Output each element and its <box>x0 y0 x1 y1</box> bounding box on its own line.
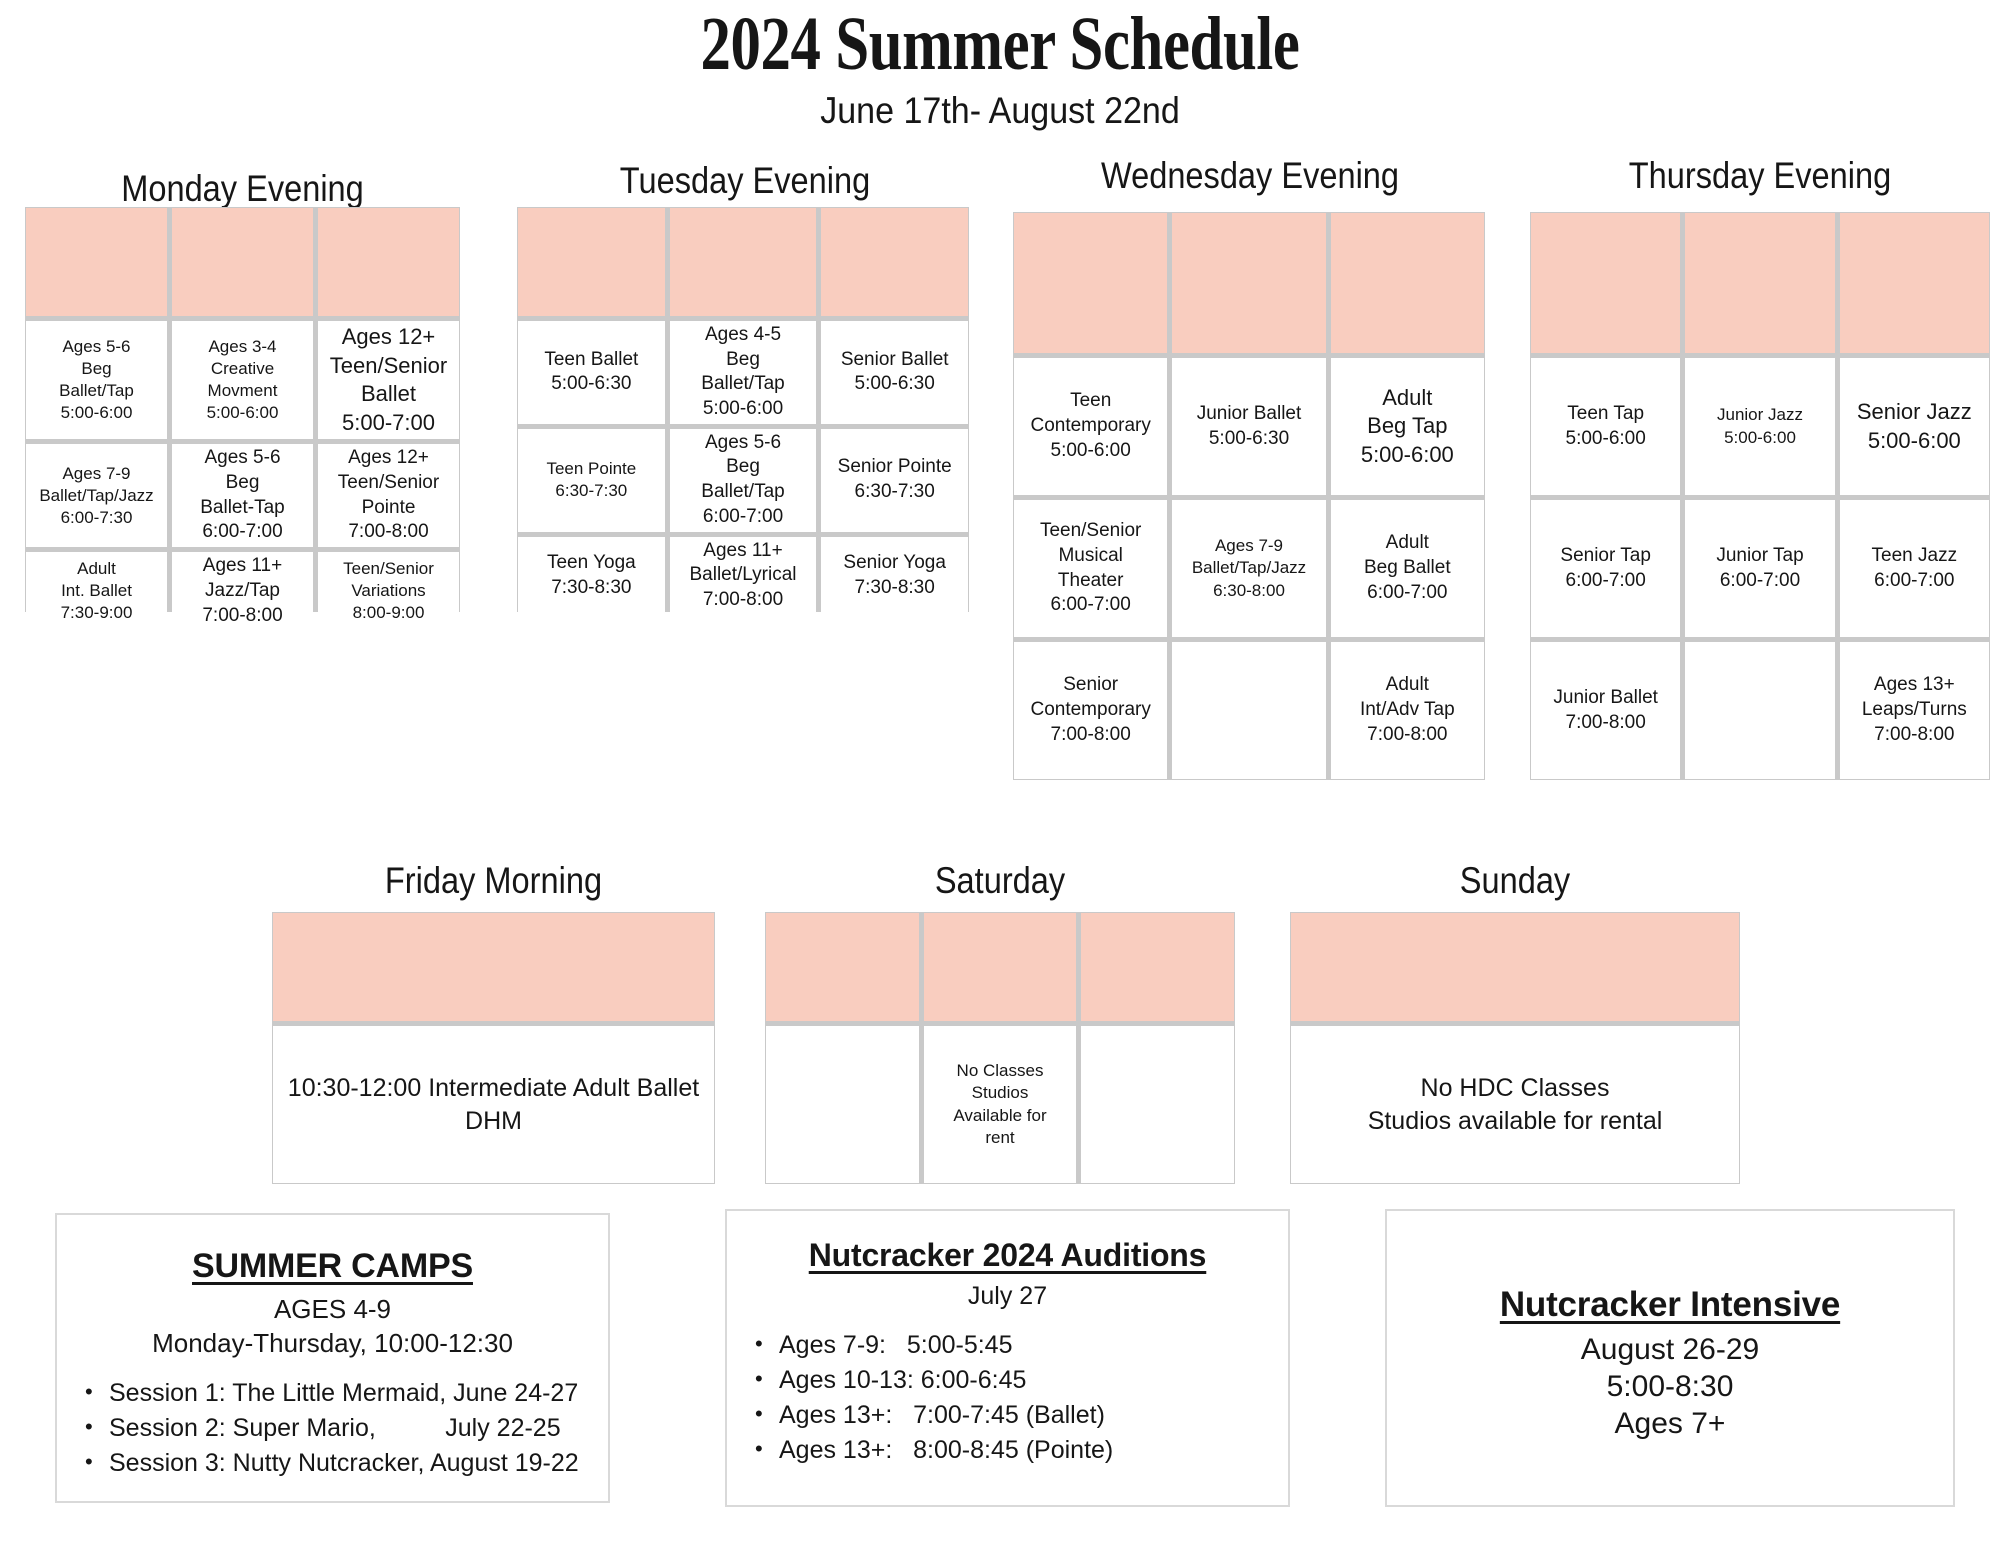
list-item: Session 2: Super Mario, July 22-25 <box>75 1414 590 1443</box>
class-line: Ages 11+ <box>673 539 814 564</box>
class-line: 7:30-8:30 <box>521 576 662 601</box>
list-item: Session 1: The Little Mermaid, June 24-2… <box>75 1379 590 1408</box>
class-line: Ages 5-6 <box>29 336 164 358</box>
class-cell[interactable]: AdultInt. Ballet7:30-9:00 <box>26 552 167 630</box>
table-row: Ages 7-9Ballet/Tap/Jazz6:00-7:30Ages 5-6… <box>26 444 459 547</box>
class-line: 6:30-7:30 <box>824 480 965 505</box>
class-line: 7:00-8:00 <box>321 520 456 545</box>
info-box-bullet-list: Ages 7-9: 5:00-5:45Ages 10-13: 6:00-6:45… <box>745 1331 1270 1465</box>
class-line: 7:00-8:00 <box>1334 723 1481 748</box>
class-line: Teen/Senior <box>321 558 456 580</box>
info-box-bullet-list: Session 1: The Little Mermaid, June 24-2… <box>75 1379 590 1478</box>
page-subtitle-dates: June 17th- August 22nd <box>80 90 1920 132</box>
class-line: Junior Ballet <box>1534 686 1677 711</box>
class-line: Ages 13+ <box>1843 673 1986 698</box>
class-cell[interactable] <box>766 1026 919 1183</box>
class-cell[interactable]: Teen Pointe6:30-7:30 <box>518 429 665 532</box>
day-title-monday-evening: Monday Evening <box>51 168 434 210</box>
class-line: 5:00-6:00 <box>1534 427 1677 452</box>
class-line: Creative <box>175 358 310 380</box>
class-cell[interactable]: Ages 13+Leaps/Turns7:00-8:00 <box>1840 642 1989 779</box>
class-line: 5:00-7:00 <box>321 409 456 438</box>
class-line: Senior <box>1017 673 1164 698</box>
class-line: Teen Ballet <box>521 348 662 373</box>
info-box-nutcracker-2024-auditions: Nutcracker 2024 AuditionsJuly 27Ages 7-9… <box>725 1209 1290 1507</box>
list-item: Ages 10-13: 6:00-6:45 <box>745 1366 1270 1395</box>
class-cell[interactable]: Ages 5-6BegBallet-Tap6:00-7:00 <box>172 444 313 547</box>
class-line: 5:00-6:30 <box>521 372 662 397</box>
class-line: Variations <box>321 580 456 602</box>
schedule-table-saturday: No ClassesStudiosAvailable forrent <box>765 912 1235 1184</box>
table-header-row <box>26 208 459 316</box>
schedule-table-monday-evening: Ages 5-6BegBallet/Tap5:00-6:00Ages 3-4Cr… <box>25 207 460 612</box>
class-line: Ages 5-6 <box>673 431 814 456</box>
class-line: Junior Ballet <box>1175 402 1322 427</box>
class-cell[interactable]: Ages 11+Ballet/Lyrical7:00-8:00 <box>670 537 817 615</box>
class-line: 5:00-6:30 <box>824 372 965 397</box>
class-line: 5:00-6:00 <box>1843 427 1986 456</box>
class-cell[interactable]: Ages 4-5BegBallet/Tap5:00-6:00 <box>670 321 817 424</box>
header-cell <box>766 913 919 1021</box>
class-line: Teen/Senior <box>321 471 456 496</box>
header-cell <box>318 208 459 316</box>
info-box-line: Ages 7+ <box>1405 1407 1935 1441</box>
class-cell[interactable]: AdultInt/Adv Tap7:00-8:00 <box>1331 642 1484 779</box>
class-line: Teen Yoga <box>521 551 662 576</box>
class-cell[interactable]: Junior Ballet7:00-8:00 <box>1531 642 1680 779</box>
list-item: Ages 13+: 7:00-7:45 (Ballet) <box>745 1401 1270 1430</box>
class-line: Adult <box>29 558 164 580</box>
class-line: Ages 5-6 <box>175 446 310 471</box>
table-row: TeenContemporary5:00-6:00Junior Ballet5:… <box>1014 358 1484 495</box>
class-cell[interactable]: Ages 5-6BegBallet/Tap6:00-7:00 <box>670 429 817 532</box>
table-header-row <box>518 208 968 316</box>
class-line: Ballet <box>321 380 456 409</box>
class-line: DHM <box>276 1105 711 1138</box>
table-row: Teen Ballet5:00-6:30Ages 4-5BegBallet/Ta… <box>518 321 968 424</box>
class-line: Studios <box>927 1082 1074 1104</box>
class-line: Musical <box>1017 544 1164 569</box>
class-cell[interactable]: Senior Yoga7:30-8:30 <box>821 537 968 615</box>
schedule-table-wednesday-evening: TeenContemporary5:00-6:00Junior Ballet5:… <box>1013 212 1485 780</box>
class-line: Teen/Senior <box>1017 519 1164 544</box>
class-cell[interactable]: Junior Tap6:00-7:00 <box>1685 500 1834 637</box>
class-line <box>1175 698 1322 723</box>
info-box-summer-camps: SUMMER CAMPSAGES 4-9Monday-Thursday, 10:… <box>55 1213 610 1503</box>
class-line: 6:00-7:00 <box>1688 569 1831 594</box>
class-line: Beg Ballet <box>1334 556 1481 581</box>
table-header-row <box>1291 913 1739 1021</box>
class-cell[interactable]: Ages 12+Teen/SeniorPointe7:00-8:00 <box>318 444 459 547</box>
page-title: 2024 Summer Schedule <box>200 6 1800 84</box>
class-line <box>1084 1092 1231 1117</box>
class-line: Ballet/Tap <box>673 372 814 397</box>
class-line: 5:00-6:00 <box>175 402 310 424</box>
table-row: No ClassesStudiosAvailable forrent <box>766 1026 1234 1183</box>
class-line: Studios available for rental <box>1294 1105 1736 1138</box>
class-line: 5:00-6:00 <box>1334 441 1481 470</box>
class-cell[interactable]: AdultBeg Tap5:00-6:00 <box>1331 358 1484 495</box>
summer-schedule-flyer: 2024 Summer Schedule June 17th- August 2… <box>0 0 2000 1545</box>
schedule-table-sunday: No HDC ClassesStudios available for rent… <box>1290 912 1740 1184</box>
class-line: Adult <box>1334 673 1481 698</box>
class-line: 6:00-7:00 <box>1534 569 1677 594</box>
class-cell[interactable]: Senior Tap6:00-7:00 <box>1531 500 1680 637</box>
class-cell[interactable]: SeniorContemporary7:00-8:00 <box>1014 642 1167 779</box>
header-cell <box>1531 213 1680 353</box>
class-line: Pointe <box>321 496 456 521</box>
info-box-line: AGES 4-9 <box>75 1294 590 1325</box>
day-title-friday-morning: Friday Morning <box>299 860 689 902</box>
table-header-row <box>766 913 1234 1021</box>
class-line: 6:00-7:00 <box>1017 593 1164 618</box>
class-line: Ballet-Tap <box>175 496 310 521</box>
class-line: Contemporary <box>1017 414 1164 439</box>
class-line: Ballet/Lyrical <box>673 563 814 588</box>
class-line: Teen Jazz <box>1843 544 1986 569</box>
class-line: 7:00-8:00 <box>1534 711 1677 736</box>
class-line: 6:00-7:00 <box>175 520 310 545</box>
header-cell <box>172 208 313 316</box>
class-cell[interactable] <box>1081 1026 1234 1183</box>
table-row: Teen/SeniorMusicalTheater6:00-7:00Ages 7… <box>1014 500 1484 637</box>
info-box-title: Nutcracker Intensive <box>1405 1285 1935 1325</box>
class-line: Teen Tap <box>1534 402 1677 427</box>
class-line: 7:30-9:00 <box>29 602 164 624</box>
info-box-line: August 26-29 <box>1405 1333 1935 1367</box>
list-item: Ages 13+: 8:00-8:45 (Pointe) <box>745 1436 1270 1465</box>
class-line: Jazz/Tap <box>175 579 310 604</box>
class-line: Int/Adv Tap <box>1334 698 1481 723</box>
class-cell[interactable] <box>1172 642 1325 779</box>
class-line: Ages 12+ <box>321 446 456 471</box>
class-line <box>1688 698 1831 723</box>
day-title-thursday-evening: Thursday Evening <box>1558 155 1963 197</box>
class-line <box>769 1092 916 1117</box>
header-cell <box>1081 913 1234 1021</box>
class-line: 6:00-7:00 <box>673 505 814 530</box>
class-line: Beg <box>175 471 310 496</box>
table-header-row <box>1531 213 1989 353</box>
class-line: Ballet/Tap <box>673 480 814 505</box>
table-row: Ages 5-6BegBallet/Tap5:00-6:00Ages 3-4Cr… <box>26 321 459 439</box>
class-cell[interactable]: Teen/SeniorVariations8:00-9:00 <box>318 552 459 630</box>
class-line: Ages 4-5 <box>673 323 814 348</box>
class-cell[interactable]: Ages 5-6BegBallet/Tap5:00-6:00 <box>26 321 167 439</box>
class-cell[interactable]: Teen Jazz6:00-7:00 <box>1840 500 1989 637</box>
day-title-sunday: Sunday <box>1317 860 1713 902</box>
header-cell <box>273 913 714 1021</box>
info-box-title: SUMMER CAMPS <box>75 1247 590 1286</box>
day-title-tuesday-evening: Tuesday Evening <box>547 160 943 202</box>
header-cell <box>1685 213 1834 353</box>
class-cell[interactable]: TeenContemporary5:00-6:00 <box>1014 358 1167 495</box>
class-cell[interactable] <box>1685 642 1834 779</box>
header-cell <box>1331 213 1484 353</box>
class-line: Adult <box>1334 531 1481 556</box>
class-cell[interactable]: Junior Jazz5:00-6:00 <box>1685 358 1834 495</box>
header-cell <box>670 208 817 316</box>
class-cell[interactable]: Senior Jazz5:00-6:00 <box>1840 358 1989 495</box>
class-cell[interactable]: Ages 3-4CreativeMovment5:00-6:00 <box>172 321 313 439</box>
class-cell[interactable]: 10:30-12:00 Intermediate Adult BalletDHM <box>273 1026 714 1183</box>
class-line: Beg <box>29 358 164 380</box>
class-line: 5:00-6:00 <box>1688 427 1831 449</box>
header-cell <box>1172 213 1325 353</box>
class-line: 5:00-6:00 <box>29 402 164 424</box>
info-box-title: Nutcracker 2024 Auditions <box>745 1237 1270 1274</box>
header-cell <box>1014 213 1167 353</box>
class-line: Theater <box>1017 569 1164 594</box>
class-cell[interactable]: No ClassesStudiosAvailable forrent <box>924 1026 1077 1183</box>
class-line: Teen <box>1017 389 1164 414</box>
class-cell[interactable]: No HDC ClassesStudios available for rent… <box>1291 1026 1739 1183</box>
class-line: Senior Jazz <box>1843 398 1986 427</box>
class-cell[interactable]: Ages 11+Jazz/Tap7:00-8:00 <box>172 552 313 630</box>
info-box-line: July 27 <box>745 1282 1270 1311</box>
class-line: Senior Pointe <box>824 455 965 480</box>
class-line: 5:00-6:00 <box>1017 439 1164 464</box>
class-cell[interactable]: Senior Ballet5:00-6:30 <box>821 321 968 424</box>
class-line: 7:00-8:00 <box>673 588 814 613</box>
class-line: Beg <box>673 348 814 373</box>
class-line: 10:30-12:00 Intermediate Adult Ballet <box>276 1072 711 1105</box>
class-cell[interactable]: AdultBeg Ballet6:00-7:00 <box>1331 500 1484 637</box>
schedule-table-thursday-evening: Teen Tap5:00-6:00Junior Jazz5:00-6:00Sen… <box>1530 212 1990 780</box>
table-row: SeniorContemporary7:00-8:00 AdultInt/Adv… <box>1014 642 1484 779</box>
header-cell <box>518 208 665 316</box>
class-line: Junior Jazz <box>1688 404 1831 426</box>
table-row: Teen Yoga7:30-8:30Ages 11+Ballet/Lyrical… <box>518 537 968 615</box>
class-line: 8:00-9:00 <box>321 602 456 624</box>
class-cell[interactable]: Senior Pointe6:30-7:30 <box>821 429 968 532</box>
class-line: Ages 7-9 <box>29 463 164 485</box>
class-cell[interactable]: Teen Ballet5:00-6:30 <box>518 321 665 424</box>
schedule-table-tuesday-evening: Teen Ballet5:00-6:30Ages 4-5BegBallet/Ta… <box>517 207 969 612</box>
schedule-table-friday-morning: 10:30-12:00 Intermediate Adult BalletDHM <box>272 912 715 1184</box>
class-cell[interactable]: Ages 12+Teen/SeniorBallet5:00-7:00 <box>318 321 459 439</box>
class-cell[interactable]: Teen Yoga7:30-8:30 <box>518 537 665 615</box>
class-line: 6:00-7:30 <box>29 507 164 529</box>
class-line: Ages 12+ <box>321 323 456 352</box>
class-line: Teen Pointe <box>521 458 662 480</box>
class-line: Ages 11+ <box>175 554 310 579</box>
class-line: Senior Tap <box>1534 544 1677 569</box>
header-cell <box>1291 913 1739 1021</box>
class-line: Senior Ballet <box>824 348 965 373</box>
class-line: Junior Tap <box>1688 544 1831 569</box>
list-item: Ages 7-9: 5:00-5:45 <box>745 1331 1270 1360</box>
class-line: Ballet/Tap/Jazz <box>1175 557 1322 579</box>
table-header-row <box>1014 213 1484 353</box>
class-line: Available for <box>927 1105 1074 1127</box>
table-row: Junior Ballet7:00-8:00 Ages 13+Leaps/Tur… <box>1531 642 1989 779</box>
class-cell[interactable]: Ages 7-9Ballet/Tap/Jazz6:00-7:30 <box>26 444 167 547</box>
class-line: 6:00-7:00 <box>1334 581 1481 606</box>
table-header-row <box>273 913 714 1021</box>
class-line: rent <box>927 1127 1074 1149</box>
class-line: Ages 3-4 <box>175 336 310 358</box>
class-cell[interactable]: Ages 7-9Ballet/Tap/Jazz6:30-8:00 <box>1172 500 1325 637</box>
class-line: 5:00-6:00 <box>673 397 814 422</box>
class-line: Ballet/Tap <box>29 380 164 402</box>
class-line: 5:00-6:30 <box>1175 427 1322 452</box>
list-item: Session 3: Nutty Nutcracker, August 19-2… <box>75 1449 590 1478</box>
class-line: Beg Tap <box>1334 412 1481 441</box>
class-line: Movment <box>175 380 310 402</box>
class-line: 6:30-7:30 <box>521 480 662 502</box>
table-row: Senior Tap6:00-7:00Junior Tap6:00-7:00Te… <box>1531 500 1989 637</box>
class-line: Teen/Senior <box>321 352 456 381</box>
info-box-line: Monday-Thursday, 10:00-12:30 <box>75 1328 590 1359</box>
info-box-nutcracker-intensive: Nutcracker IntensiveAugust 26-295:00-8:3… <box>1385 1209 1955 1507</box>
day-title-saturday: Saturday <box>793 860 1207 902</box>
class-line: Contemporary <box>1017 698 1164 723</box>
class-line: Senior Yoga <box>824 551 965 576</box>
class-line: 7:00-8:00 <box>1017 723 1164 748</box>
table-row: 10:30-12:00 Intermediate Adult BalletDHM <box>273 1026 714 1183</box>
class-cell[interactable]: Teen/SeniorMusicalTheater6:00-7:00 <box>1014 500 1167 637</box>
table-row: No HDC ClassesStudios available for rent… <box>1291 1026 1739 1183</box>
header-cell <box>821 208 968 316</box>
table-row: Teen Tap5:00-6:00Junior Jazz5:00-6:00Sen… <box>1531 358 1989 495</box>
class-line: 6:00-7:00 <box>1843 569 1986 594</box>
class-line: Ages 7-9 <box>1175 535 1322 557</box>
header-cell <box>26 208 167 316</box>
class-line: Leaps/Turns <box>1843 698 1986 723</box>
class-line: Int. Ballet <box>29 580 164 602</box>
class-line: Ballet/Tap/Jazz <box>29 485 164 507</box>
header-cell <box>1840 213 1989 353</box>
class-line: 7:30-8:30 <box>824 576 965 601</box>
table-row: AdultInt. Ballet7:30-9:00Ages 11+Jazz/Ta… <box>26 552 459 630</box>
class-line: 7:00-8:00 <box>1843 723 1986 748</box>
day-title-wednesday-evening: Wednesday Evening <box>1043 155 1457 197</box>
class-line: 6:30-8:00 <box>1175 580 1322 602</box>
class-line: Beg <box>673 455 814 480</box>
class-cell[interactable]: Junior Ballet5:00-6:30 <box>1172 358 1325 495</box>
class-line: 7:00-8:00 <box>175 604 310 629</box>
table-row: Teen Pointe6:30-7:30Ages 5-6BegBallet/Ta… <box>518 429 968 532</box>
class-line: Adult <box>1334 384 1481 413</box>
class-cell[interactable]: Teen Tap5:00-6:00 <box>1531 358 1680 495</box>
info-box-line: 5:00-8:30 <box>1405 1370 1935 1404</box>
class-line: No Classes <box>927 1060 1074 1082</box>
header-cell <box>924 913 1077 1021</box>
class-line: No HDC Classes <box>1294 1072 1736 1105</box>
